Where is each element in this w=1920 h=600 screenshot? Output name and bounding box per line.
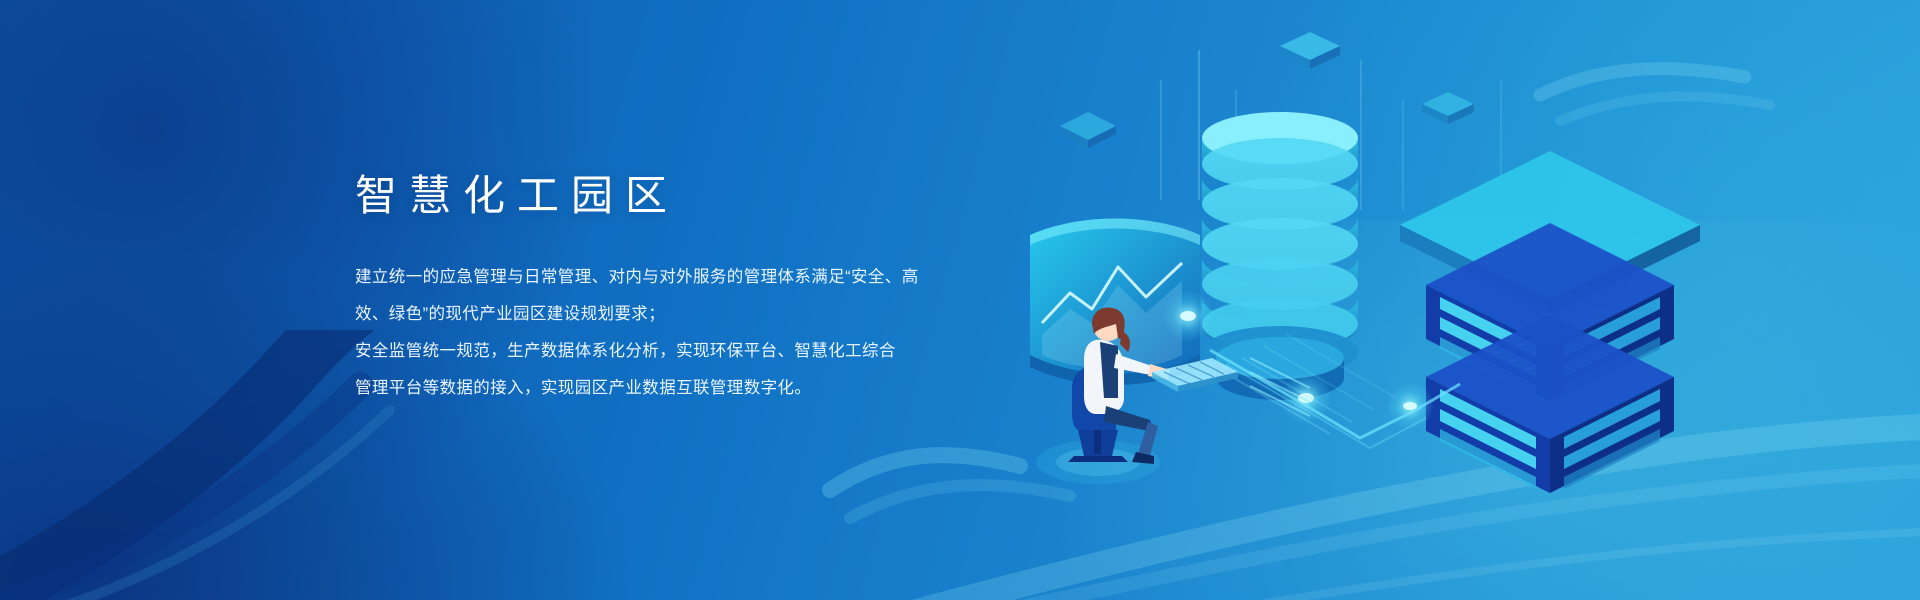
description-line-2: 效、绿色”的现代产业园区建设规划要求； — [355, 296, 1115, 333]
hero-banner: 智慧化工园区 建立统一的应急管理与日常管理、对内与对外服务的管理体系满足“安全、… — [0, 0, 1920, 600]
description-line-4: 管理平台等数据的接入，实现园区产业数据互联管理数字化。 — [355, 370, 1115, 407]
isometric-data-center-illustration — [1030, 20, 1750, 560]
banner-description: 建立统一的应急管理与日常管理、对内与对外服务的管理体系满足“安全、高 效、绿色”… — [355, 259, 1115, 407]
description-line-1: 建立统一的应急管理与日常管理、对内与对外服务的管理体系满足“安全、高 — [355, 259, 1115, 296]
server-rack-tower — [1202, 112, 1358, 400]
server-cabinet-right — [1400, 151, 1700, 493]
banner-content: 智慧化工园区 建立统一的应急管理与日常管理、对内与对外服务的管理体系满足“安全、… — [355, 175, 1115, 407]
page-title: 智慧化工园区 — [355, 175, 1115, 217]
description-line-3: 安全监管统一规范，生产数据体系化分析，实现环保平台、智慧化工综合 — [355, 333, 1115, 370]
